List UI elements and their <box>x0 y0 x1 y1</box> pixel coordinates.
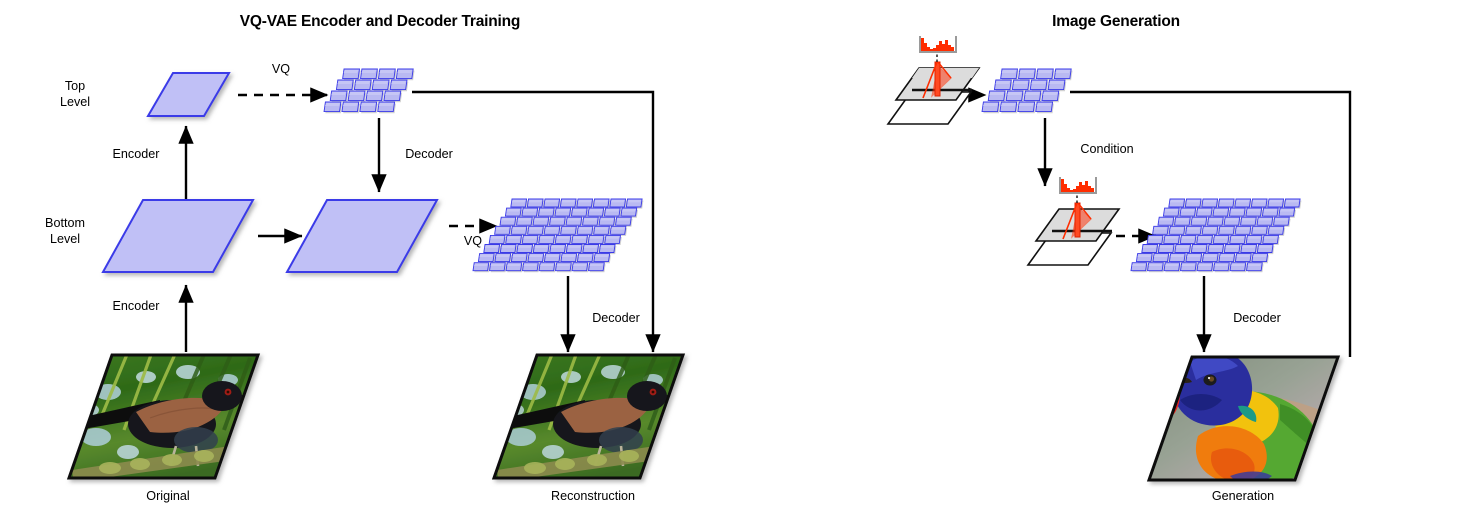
code-tile <box>1252 226 1269 236</box>
code-tile <box>556 263 573 273</box>
caption-generation: Generation <box>1173 489 1313 504</box>
code-tile <box>594 226 611 236</box>
code-tile <box>1213 235 1230 245</box>
code-tile <box>1180 208 1197 218</box>
code-tile <box>1279 208 1296 218</box>
code-tile <box>561 226 578 236</box>
code-tile <box>522 208 539 218</box>
code-tile <box>982 102 1000 113</box>
code-tile <box>1197 263 1214 273</box>
code-tile <box>550 217 567 227</box>
code-tile <box>1251 199 1268 209</box>
code-tile <box>1024 91 1042 102</box>
code-tile <box>324 102 342 113</box>
code-tile <box>1235 254 1252 264</box>
figure-canvas: VQ-VAE Encoder and Decoder Training Top … <box>0 0 1472 523</box>
code-tile <box>1153 226 1170 236</box>
code-tile <box>1163 208 1180 218</box>
code-tile <box>610 226 627 236</box>
code-tile <box>588 208 605 218</box>
code-tile <box>1219 254 1236 264</box>
code-tile <box>1148 263 1165 273</box>
code-tile <box>343 69 361 80</box>
code-tile <box>473 263 490 273</box>
bottom-level-encoder-output-map <box>103 200 253 272</box>
code-tile <box>1202 254 1219 264</box>
code-tile <box>1246 208 1263 218</box>
reconstruction-image <box>485 350 695 485</box>
code-tile <box>544 226 561 236</box>
code-tile <box>571 208 588 218</box>
code-tile <box>1268 199 1285 209</box>
code-tile <box>555 208 572 218</box>
code-tile <box>1257 245 1274 255</box>
code-tile <box>1136 254 1153 264</box>
code-tile <box>1218 199 1235 209</box>
code-tile <box>1036 102 1054 113</box>
edge-label-decoder-bottom: Decoder <box>576 311 656 326</box>
code-tile <box>544 199 561 209</box>
right-panel-graphics <box>760 0 1472 523</box>
pixelcnn-prior-bottom-icon <box>1028 177 1119 265</box>
code-tile <box>1274 217 1291 227</box>
code-tile <box>555 235 572 245</box>
code-tile <box>378 69 396 80</box>
code-tile <box>599 245 616 255</box>
code-tile <box>577 226 594 236</box>
code-tile <box>1197 235 1214 245</box>
code-tile <box>1202 199 1219 209</box>
code-tile <box>330 91 348 102</box>
code-tile <box>396 69 414 80</box>
code-tile <box>605 235 622 245</box>
code-tile <box>360 102 378 113</box>
edge-label-vq-top: VQ <box>246 62 316 77</box>
code-tile <box>593 199 610 209</box>
caption-reconstruction: Reconstruction <box>513 489 673 504</box>
code-tile <box>1235 226 1252 236</box>
code-tile <box>506 235 523 245</box>
pixelcnn-prior-top-icon <box>888 36 979 124</box>
code-tile <box>599 217 616 227</box>
code-tile <box>566 245 583 255</box>
code-tile <box>539 235 556 245</box>
top-level-code-grid <box>324 69 414 113</box>
code-tile <box>577 254 594 264</box>
edge-label-encoder-bottom: Encoder <box>96 299 176 314</box>
code-tile <box>616 217 633 227</box>
code-tile <box>372 80 390 91</box>
code-tile <box>1235 199 1252 209</box>
code-tile <box>517 245 534 255</box>
code-tile <box>561 254 578 264</box>
code-tile <box>1000 102 1018 113</box>
code-tile <box>1241 217 1258 227</box>
code-tile <box>1191 217 1208 227</box>
code-tile <box>366 91 384 102</box>
generation-top-code-grid <box>982 69 1072 113</box>
code-tile <box>1185 199 1202 209</box>
code-tile <box>1208 217 1225 227</box>
code-tile <box>1252 254 1269 264</box>
code-tile <box>988 91 1006 102</box>
code-tile <box>517 217 534 227</box>
edge-label-decoder-generation: Decoder <box>1212 311 1302 326</box>
code-tile <box>511 199 528 209</box>
code-tile <box>1142 245 1159 255</box>
code-tile <box>506 263 523 273</box>
code-tile <box>544 254 561 264</box>
caption-original: Original <box>103 489 233 504</box>
code-tile <box>1175 245 1192 255</box>
code-tile <box>1036 69 1054 80</box>
code-tile <box>604 208 621 218</box>
code-tile <box>1054 69 1072 80</box>
code-tile <box>1241 245 1258 255</box>
code-tile <box>533 245 550 255</box>
code-tile <box>1246 235 1263 245</box>
code-tile <box>626 199 643 209</box>
code-tile <box>384 91 402 102</box>
code-tile <box>1196 208 1213 218</box>
code-tile <box>1006 91 1024 102</box>
code-tile <box>527 199 544 209</box>
code-tile <box>522 235 539 245</box>
code-tile <box>1158 245 1175 255</box>
code-tile <box>1019 69 1037 80</box>
code-tile <box>354 80 372 91</box>
code-tile <box>511 226 528 236</box>
code-tile <box>1230 263 1247 273</box>
code-tile <box>1268 226 1285 236</box>
code-tile <box>994 80 1012 91</box>
code-tile <box>589 263 606 273</box>
code-tile <box>1175 217 1192 227</box>
top-level-encoder-output-map <box>148 73 229 116</box>
code-tile <box>1018 102 1036 113</box>
code-tile <box>511 254 528 264</box>
code-tile <box>1263 235 1280 245</box>
code-tile <box>500 217 517 227</box>
code-tile <box>621 208 638 218</box>
code-tile <box>1131 263 1148 273</box>
code-tile <box>1213 208 1230 218</box>
code-tile <box>1180 235 1197 245</box>
code-tile <box>1230 235 1247 245</box>
code-tile <box>1169 199 1186 209</box>
code-tile <box>528 254 545 264</box>
code-tile <box>1284 199 1301 209</box>
code-tile <box>1030 80 1048 91</box>
code-tile <box>390 80 408 91</box>
panel-vqvae-training: VQ-VAE Encoder and Decoder Training Top … <box>0 0 760 523</box>
code-tile <box>1042 91 1060 102</box>
code-tile <box>348 91 366 102</box>
code-tile <box>1048 80 1066 91</box>
code-tile <box>1158 217 1175 227</box>
code-tile <box>550 245 567 255</box>
code-tile <box>538 208 555 218</box>
code-tile <box>378 102 396 113</box>
edge-label-vq-bottom: VQ <box>438 234 508 249</box>
code-tile <box>478 254 495 264</box>
code-tile <box>560 199 577 209</box>
code-tile <box>566 217 583 227</box>
code-tile <box>495 254 512 264</box>
generation-image <box>1140 350 1350 486</box>
code-tile <box>361 69 379 80</box>
code-tile <box>528 226 545 236</box>
edge-label-decoder-top: Decoder <box>389 147 469 162</box>
code-tile <box>1257 217 1274 227</box>
code-tile <box>1169 226 1186 236</box>
code-tile <box>1153 254 1170 264</box>
code-tile <box>1247 263 1264 273</box>
code-tile <box>1262 208 1279 218</box>
code-tile <box>577 199 594 209</box>
code-tile <box>572 235 589 245</box>
code-tile <box>1164 263 1181 273</box>
code-tile <box>1224 217 1241 227</box>
panel-image-generation: Image Generation <box>760 0 1472 523</box>
generation-bottom-code-grid <box>1131 199 1301 272</box>
code-tile <box>523 263 540 273</box>
code-tile <box>1202 226 1219 236</box>
code-tile <box>490 263 507 273</box>
code-tile <box>1214 263 1231 273</box>
code-tile <box>1147 235 1164 245</box>
code-tile <box>1001 69 1019 80</box>
code-tile <box>1219 226 1236 236</box>
code-tile <box>1191 245 1208 255</box>
edge-label-encoder-top: Encoder <box>96 147 176 162</box>
code-tile <box>588 235 605 245</box>
code-tile <box>1229 208 1246 218</box>
code-tile <box>539 263 556 273</box>
code-tile <box>342 102 360 113</box>
code-tile <box>533 217 550 227</box>
code-tile <box>1186 254 1203 264</box>
code-tile <box>610 199 627 209</box>
edge-label-condition: Condition <box>1052 142 1162 157</box>
original-image <box>60 350 270 485</box>
bottom-level-merged-map <box>287 200 437 272</box>
code-tile <box>583 245 600 255</box>
code-tile <box>1169 254 1186 264</box>
code-tile <box>1186 226 1203 236</box>
code-tile <box>572 263 589 273</box>
code-tile <box>1208 245 1225 255</box>
code-tile <box>1012 80 1030 91</box>
left-panel-graphics <box>0 0 760 523</box>
code-tile <box>583 217 600 227</box>
code-tile <box>336 80 354 91</box>
code-tile <box>1181 263 1198 273</box>
code-tile <box>594 254 611 264</box>
code-tile <box>1164 235 1181 245</box>
code-tile <box>1224 245 1241 255</box>
code-tile <box>505 208 522 218</box>
